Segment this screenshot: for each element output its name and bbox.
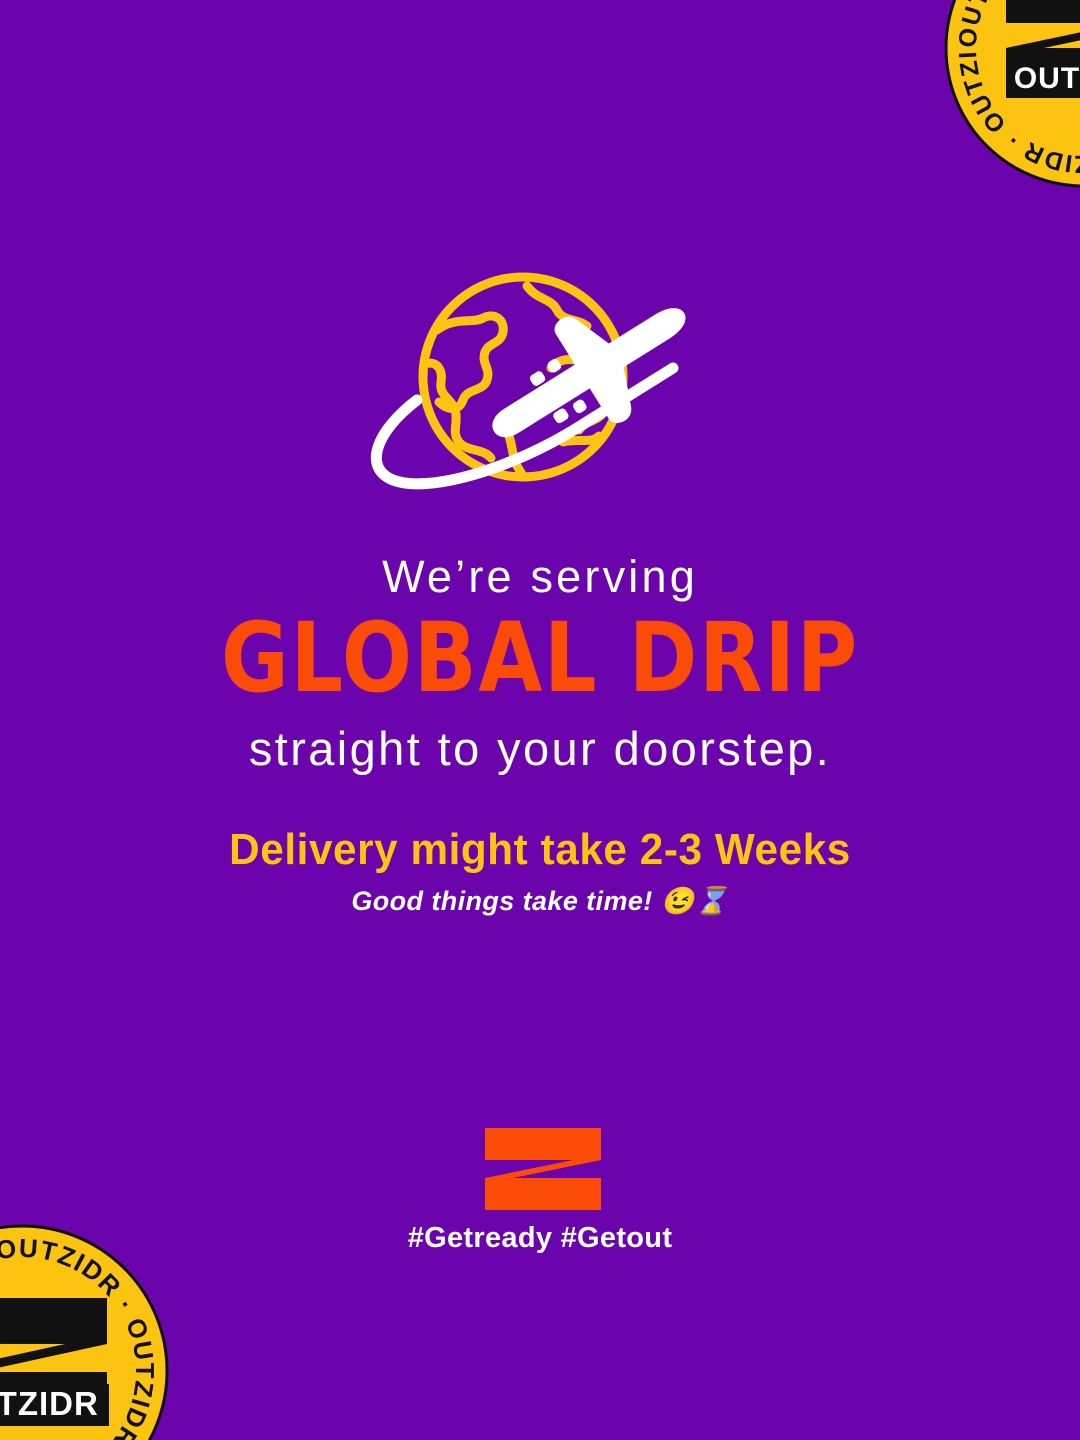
headline-line-1: We’re serving [0, 548, 1080, 606]
promo-poster: We’re serving GLOBAL DRIP straight to yo… [0, 0, 1080, 1440]
sticker-logo-z: OUTZIDR [1006, 0, 1080, 98]
headline-line-3: straight to your doorstep. [0, 720, 1080, 778]
delivery-subnote: Good things take time! 😉⌛ [0, 880, 1080, 922]
brand-logo-z [483, 1126, 603, 1212]
delivery-notice: Delivery might take 2-3 Weeks [22, 822, 1059, 878]
outzidr-sticker-top-right: OUTZIDR · OUTZIDR · OUTZIDR · OUTZIDR · … [944, 0, 1080, 188]
headline-block: We’re serving GLOBAL DRIP straight to yo… [0, 548, 1080, 778]
svg-text:OUTZIDR: OUTZIDR [1014, 62, 1080, 95]
headline-line-2: GLOBAL DRIP [76, 612, 1005, 704]
outzidr-sticker-bottom-left: OUTZIDR · OUTZIDR · OUTZIDR · OUTZIDR · … [0, 1224, 169, 1440]
svg-text:OUTZIDR: OUTZIDR [0, 1385, 99, 1422]
globe-airplane-illustration [355, 272, 715, 512]
